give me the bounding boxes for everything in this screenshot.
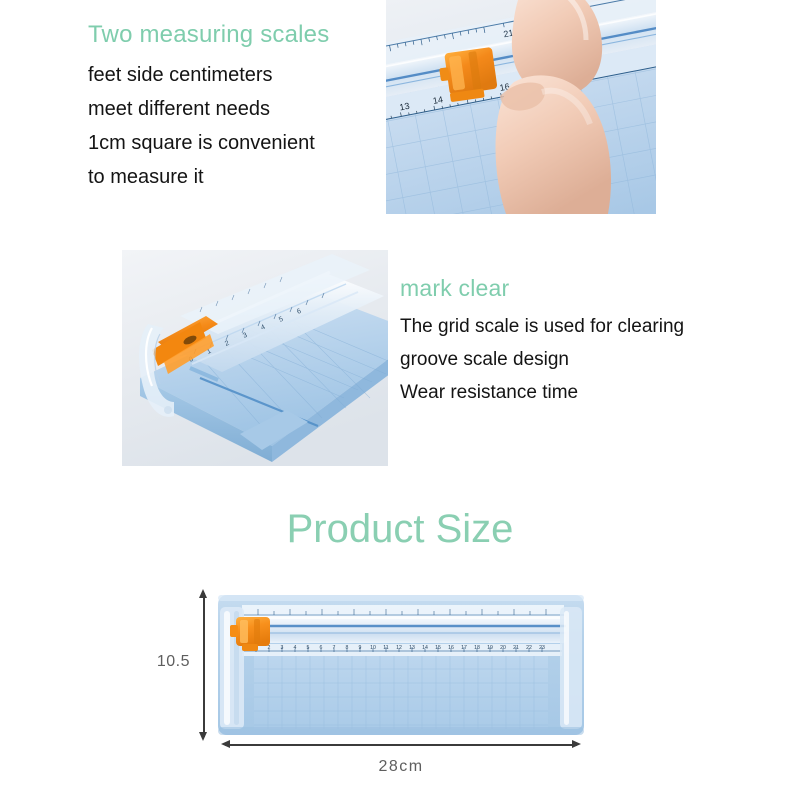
section-one-line-3: 1cm square is convenient — [88, 126, 388, 160]
dimension-label-width: 28cm — [221, 758, 581, 776]
section-two-line-2: groove scale design — [400, 343, 780, 376]
svg-text:13: 13 — [399, 101, 411, 113]
section-one-line-4: to measure it — [88, 160, 388, 194]
svg-text:22: 22 — [526, 645, 532, 651]
svg-text:7: 7 — [333, 645, 336, 651]
svg-text:15: 15 — [435, 645, 441, 651]
svg-text:6: 6 — [320, 645, 323, 651]
svg-text:16: 16 — [448, 645, 454, 651]
svg-text:17: 17 — [461, 645, 467, 651]
photo-trimmer-front: 123 456 789 101112 131415 161718 192021 … — [212, 589, 590, 741]
photo-ruler-with-fingers: 11 12 13 14 15 16 17 18 — [386, 0, 656, 214]
svg-text:12: 12 — [396, 645, 402, 651]
svg-text:3: 3 — [281, 645, 284, 651]
svg-text:5: 5 — [307, 645, 310, 651]
svg-text:21: 21 — [513, 645, 519, 651]
section-one-line-2: meet different needs — [88, 92, 388, 126]
svg-text:23: 23 — [539, 645, 545, 651]
section-one-line-1: feet side centimeters — [88, 58, 388, 92]
svg-text:14: 14 — [432, 94, 444, 106]
product-infographic-page: Two measuring scales feet side centimete… — [0, 0, 800, 800]
section-two-body-lines: The grid scale is used for clearing groo… — [400, 310, 780, 409]
arrow-shaft-vertical — [203, 593, 205, 737]
arrow-head-down-icon — [199, 732, 207, 741]
section-one-body-lines: feet side centimeters meet different nee… — [88, 58, 388, 194]
dimension-arrow-vertical — [196, 589, 212, 741]
section-one-heading: Two measuring scales — [88, 18, 388, 52]
svg-text:2: 2 — [268, 645, 271, 651]
svg-text:9: 9 — [359, 645, 362, 651]
svg-text:18: 18 — [474, 645, 480, 651]
svg-text:19: 19 — [487, 645, 493, 651]
svg-text:4: 4 — [294, 645, 297, 651]
photo-trimmer-angled: 0 1 2 3 4 5 6 — [122, 250, 388, 466]
svg-text:20: 20 — [500, 645, 506, 651]
dimension-label-height: 10.5 — [138, 653, 190, 671]
svg-text:11: 11 — [383, 645, 388, 651]
dimension-arrow-horizontal — [221, 737, 581, 753]
arrow-shaft-horizontal — [225, 744, 577, 746]
section-two-line-1: The grid scale is used for clearing — [400, 310, 780, 343]
section-two-text-block: mark clear The grid scale is used for cl… — [400, 272, 780, 409]
svg-text:13: 13 — [409, 645, 415, 651]
svg-text:8: 8 — [346, 645, 349, 651]
section-two-heading: mark clear — [400, 272, 780, 304]
product-size-diagram: 10.5 — [0, 575, 800, 785]
svg-text:10: 10 — [370, 645, 376, 651]
section-one-text-block: Two measuring scales feet side centimete… — [88, 18, 388, 194]
section-two-line-3: Wear resistance time — [400, 376, 780, 409]
svg-text:14: 14 — [422, 645, 428, 651]
product-size-title: Product Size — [0, 505, 800, 553]
arrow-head-right-icon — [572, 740, 581, 748]
